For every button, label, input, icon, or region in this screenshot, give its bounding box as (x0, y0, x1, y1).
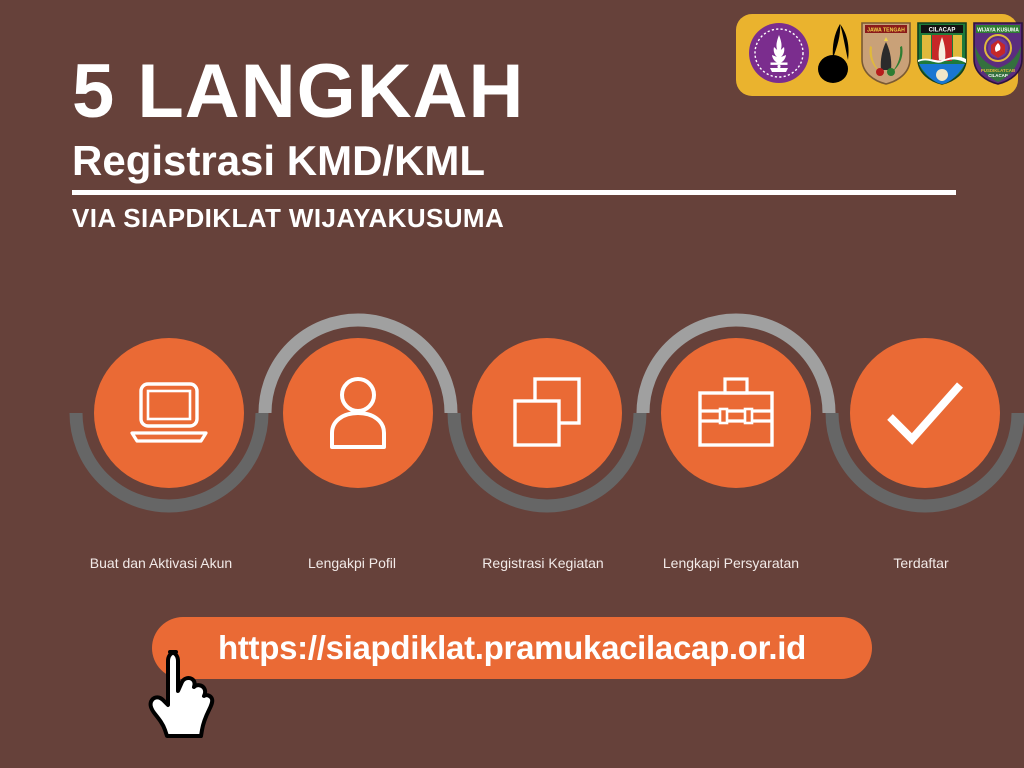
user-icon (321, 373, 395, 453)
step-5-disc (850, 338, 1000, 488)
checkmark-icon (882, 377, 968, 449)
step-4-label: Lengkapi Persyaratan (628, 552, 834, 574)
step-4 (633, 310, 839, 520)
step-5-label: Terdaftar (818, 552, 1024, 574)
website-url-button[interactable]: https://siapdiklat.pramukacilacap.or.id (152, 617, 872, 679)
step-1 (66, 310, 272, 520)
step-3 (444, 310, 650, 520)
step-1-label: Buat dan Aktivasi Akun (58, 552, 264, 574)
step-2-disc (283, 338, 433, 488)
laptop-icon (126, 377, 212, 449)
pointing-hand-cursor-icon (144, 644, 218, 740)
steps-row (0, 310, 1024, 520)
wijaya-kusuma-shield-icon: WIJAYA KUSUMA PUSDIKLATCAB CILACAP (972, 20, 1024, 91)
step-2-label: Lengakpi Pofil (249, 552, 455, 574)
svg-text:CILACAP: CILACAP (988, 73, 1008, 78)
windows-icon (507, 373, 587, 453)
svg-text:WIJAYA KUSUMA: WIJAYA KUSUMA (977, 27, 1019, 33)
briefcase-icon (694, 375, 778, 451)
step-4-disc (661, 338, 811, 488)
page-title: 5 LANGKAH (72, 56, 962, 128)
headline-block: 5 LANGKAH Registrasi KMD/KML VIA SIAPDIK… (72, 56, 962, 234)
page-tagline: VIA SIAPDIKLAT WIJAYAKUSUMA (72, 203, 962, 234)
infographic-poster: JAWA TENGAH CILACAP (0, 0, 1024, 768)
headline-divider (72, 190, 956, 195)
svg-text:JAWA TENGAH: JAWA TENGAH (867, 27, 905, 33)
step-2 (255, 310, 461, 520)
svg-text:CILACAP: CILACAP (929, 27, 956, 33)
website-url-text: https://siapdiklat.pramukacilacap.or.id (218, 629, 806, 667)
step-5 (822, 310, 1024, 520)
step-3-label: Registrasi Kegiatan (440, 552, 646, 574)
step-3-disc (472, 338, 622, 488)
step-captions: Buat dan Aktivasi Akun Lengakpi Pofil Re… (0, 552, 1024, 576)
step-1-disc (94, 338, 244, 488)
page-subtitle: Registrasi KMD/KML (72, 138, 962, 184)
